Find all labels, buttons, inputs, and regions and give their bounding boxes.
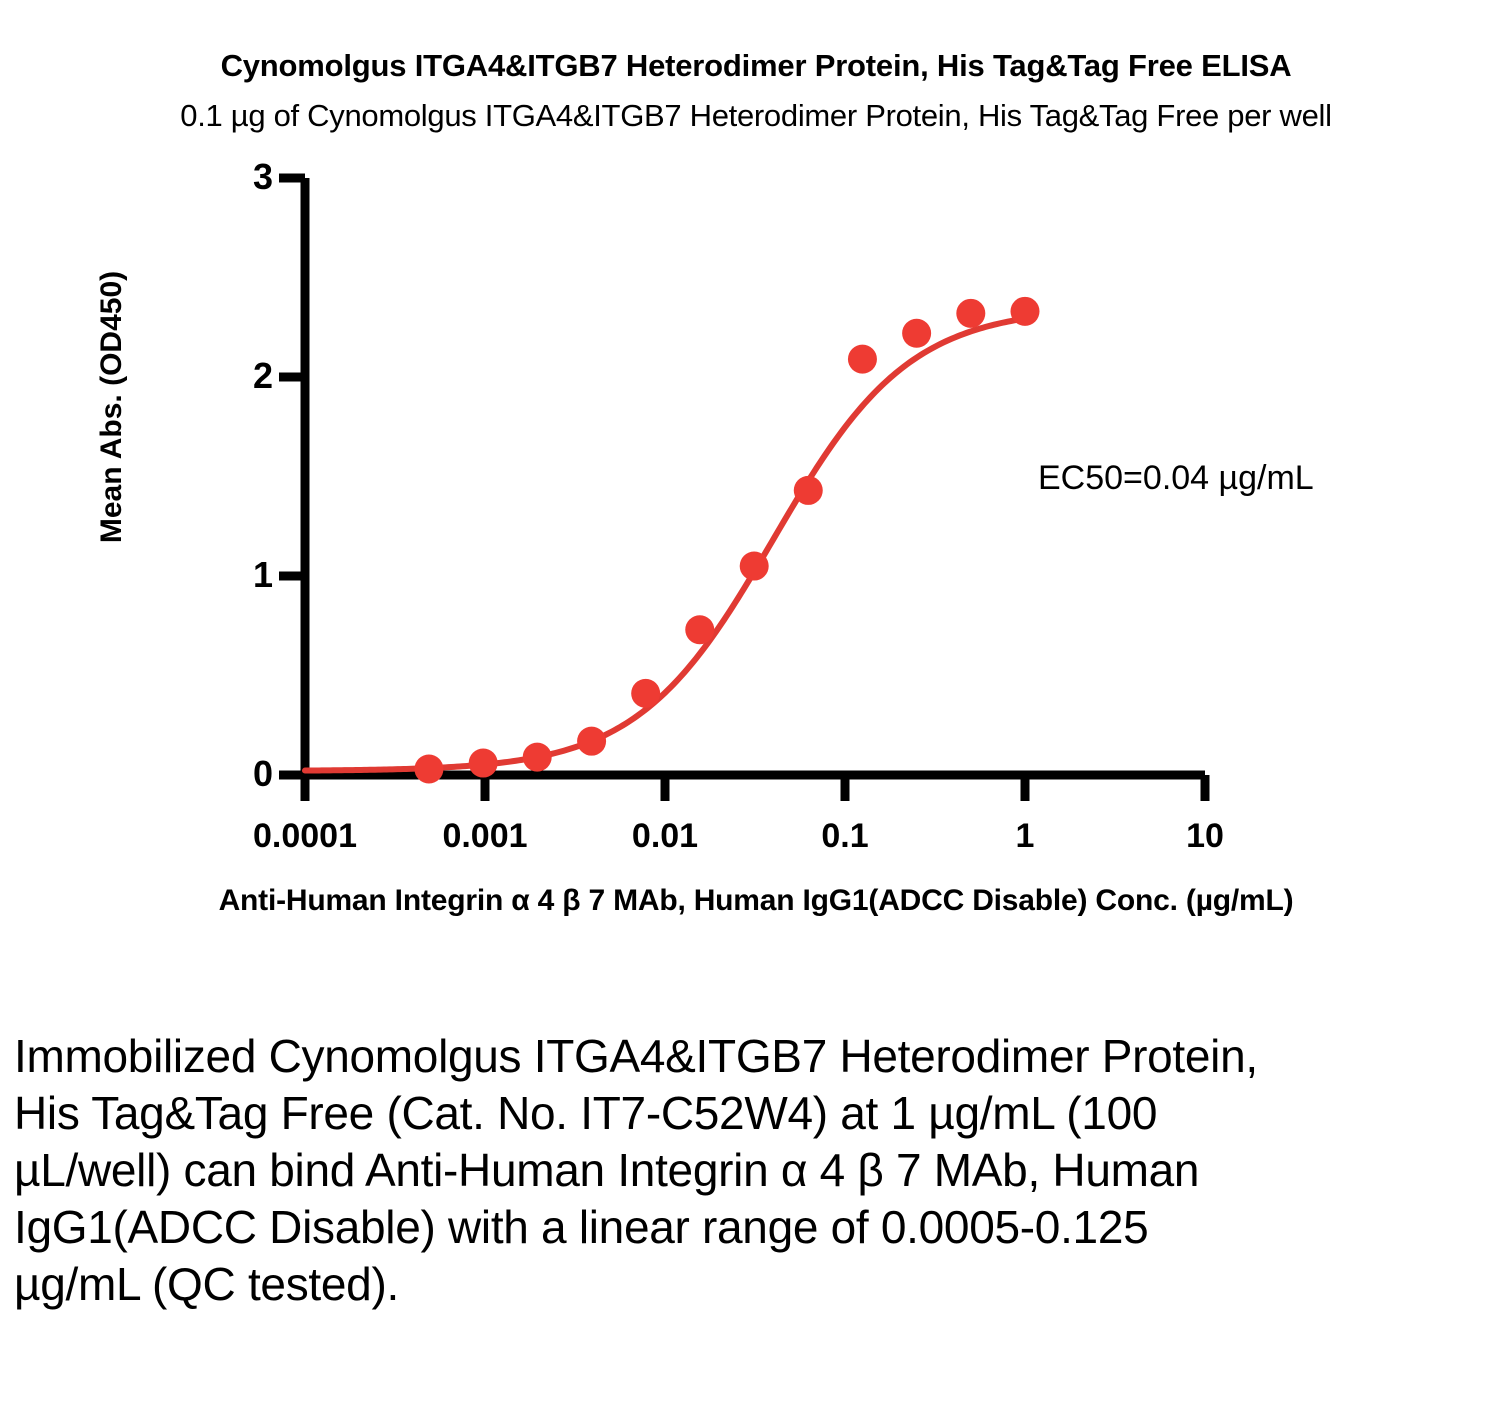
data-point-marker (577, 727, 606, 756)
data-point-marker (523, 743, 552, 772)
y-tick-label: 2 (213, 358, 273, 394)
data-point-marker (956, 299, 985, 328)
y-tick-label: 1 (213, 557, 273, 593)
y-tick-label: 3 (213, 159, 273, 195)
elisa-figure: Cynomolgus ITGA4&ITGB7 Heterodimer Prote… (0, 0, 1512, 960)
fit-curve (305, 318, 1031, 771)
figure-caption: Immobilized Cynomolgus ITGA4&ITGB7 Heter… (14, 1028, 1274, 1313)
data-point-marker (631, 679, 660, 708)
data-point-marker (685, 615, 714, 644)
y-axis-title: Mean Abs. (OD450) (95, 197, 129, 617)
ec50-annotation: EC50=0.04 µg/mL (1038, 459, 1314, 498)
data-point-marker (414, 755, 443, 784)
data-point-marker (902, 319, 931, 348)
y-tick-label: 0 (213, 756, 273, 792)
data-point-marker (848, 345, 877, 374)
x-axis-title: Anti-Human Integrin α 4 β 7 MAb, Human I… (0, 884, 1512, 918)
plot-area: Mean Abs. (OD450) 0123 0.00010.0010.010.… (0, 0, 1512, 960)
data-point-marker (740, 552, 769, 581)
data-point-marker (1011, 297, 1040, 326)
x-tick-label: 10 (1095, 819, 1315, 853)
data-point-marker (469, 749, 498, 778)
data-point-marker (794, 476, 823, 505)
